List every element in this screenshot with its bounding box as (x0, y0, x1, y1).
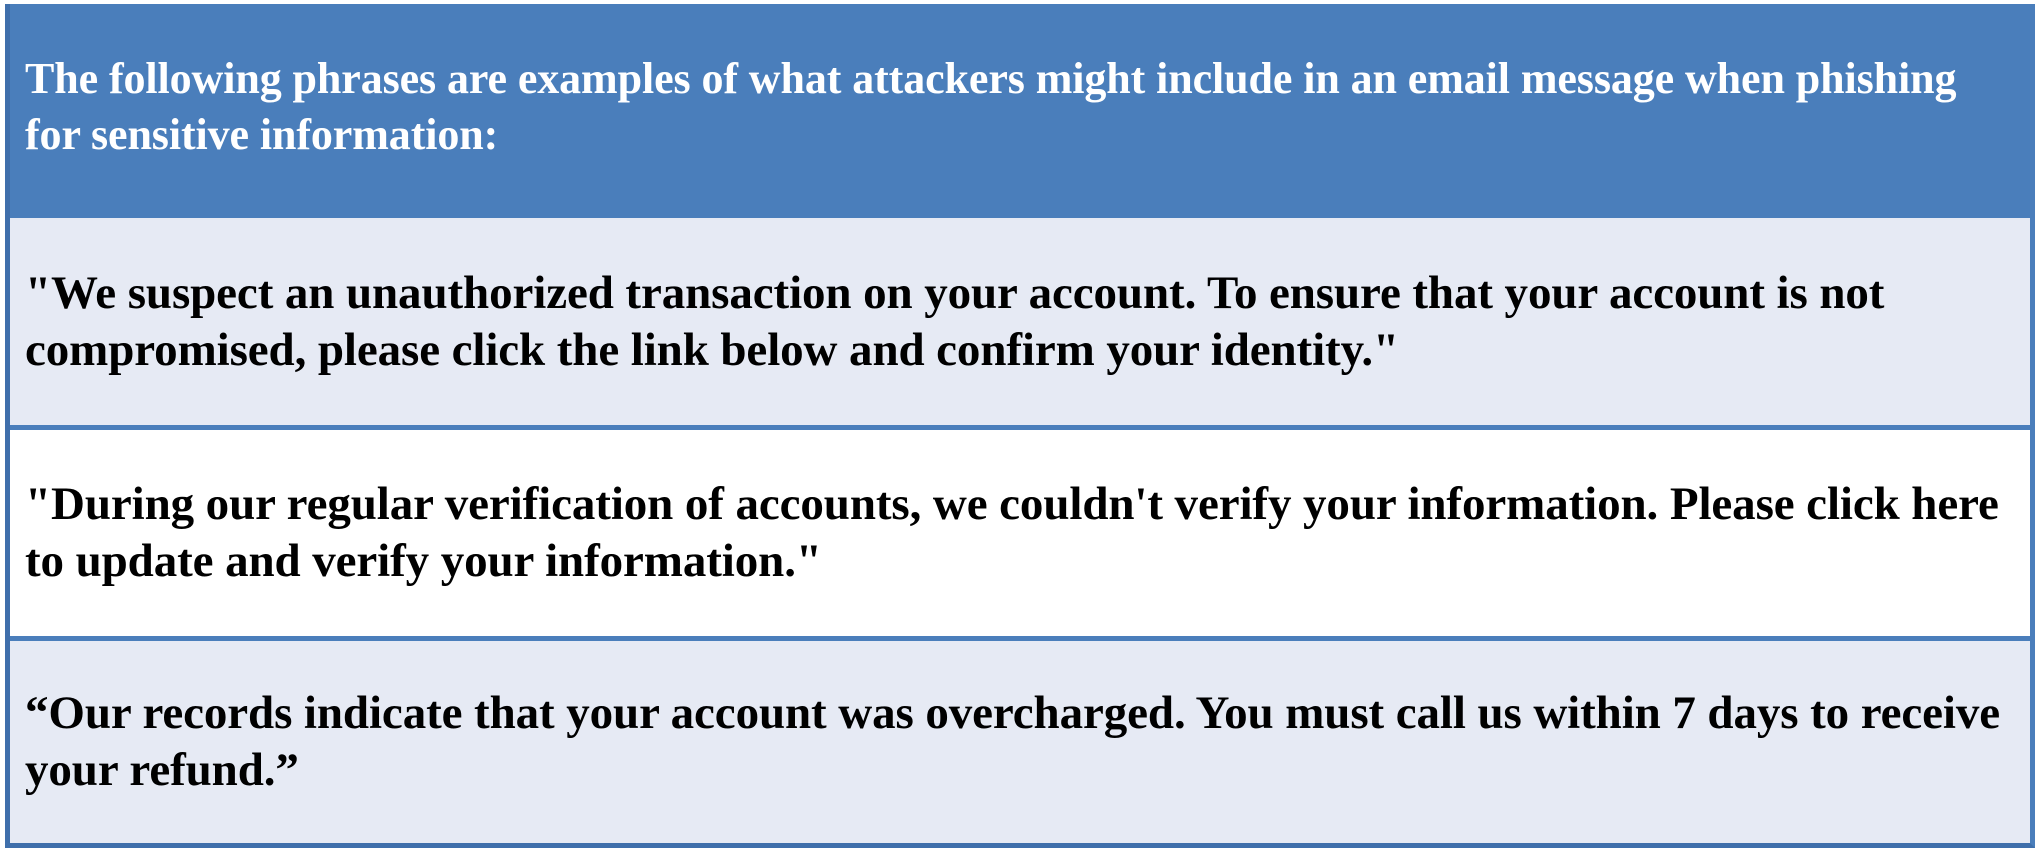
table-header-text: The following phrases are examples of wh… (25, 51, 2004, 163)
table-row: “Our records indicate that your account … (10, 636, 2030, 843)
phishing-example-text-2: "During our regular verification of acco… (25, 476, 2004, 590)
table-row: "We suspect an unauthorized transaction … (10, 213, 2030, 425)
phishing-example-text-3: “Our records indicate that your account … (25, 685, 2004, 799)
phishing-example-text-1: "We suspect an unauthorized transaction … (25, 265, 2004, 379)
table-row: "During our regular verification of acco… (10, 425, 2030, 636)
phishing-examples-table: The following phrases are examples of wh… (5, 4, 2035, 848)
table-header-row: The following phrases are examples of wh… (10, 4, 2030, 213)
